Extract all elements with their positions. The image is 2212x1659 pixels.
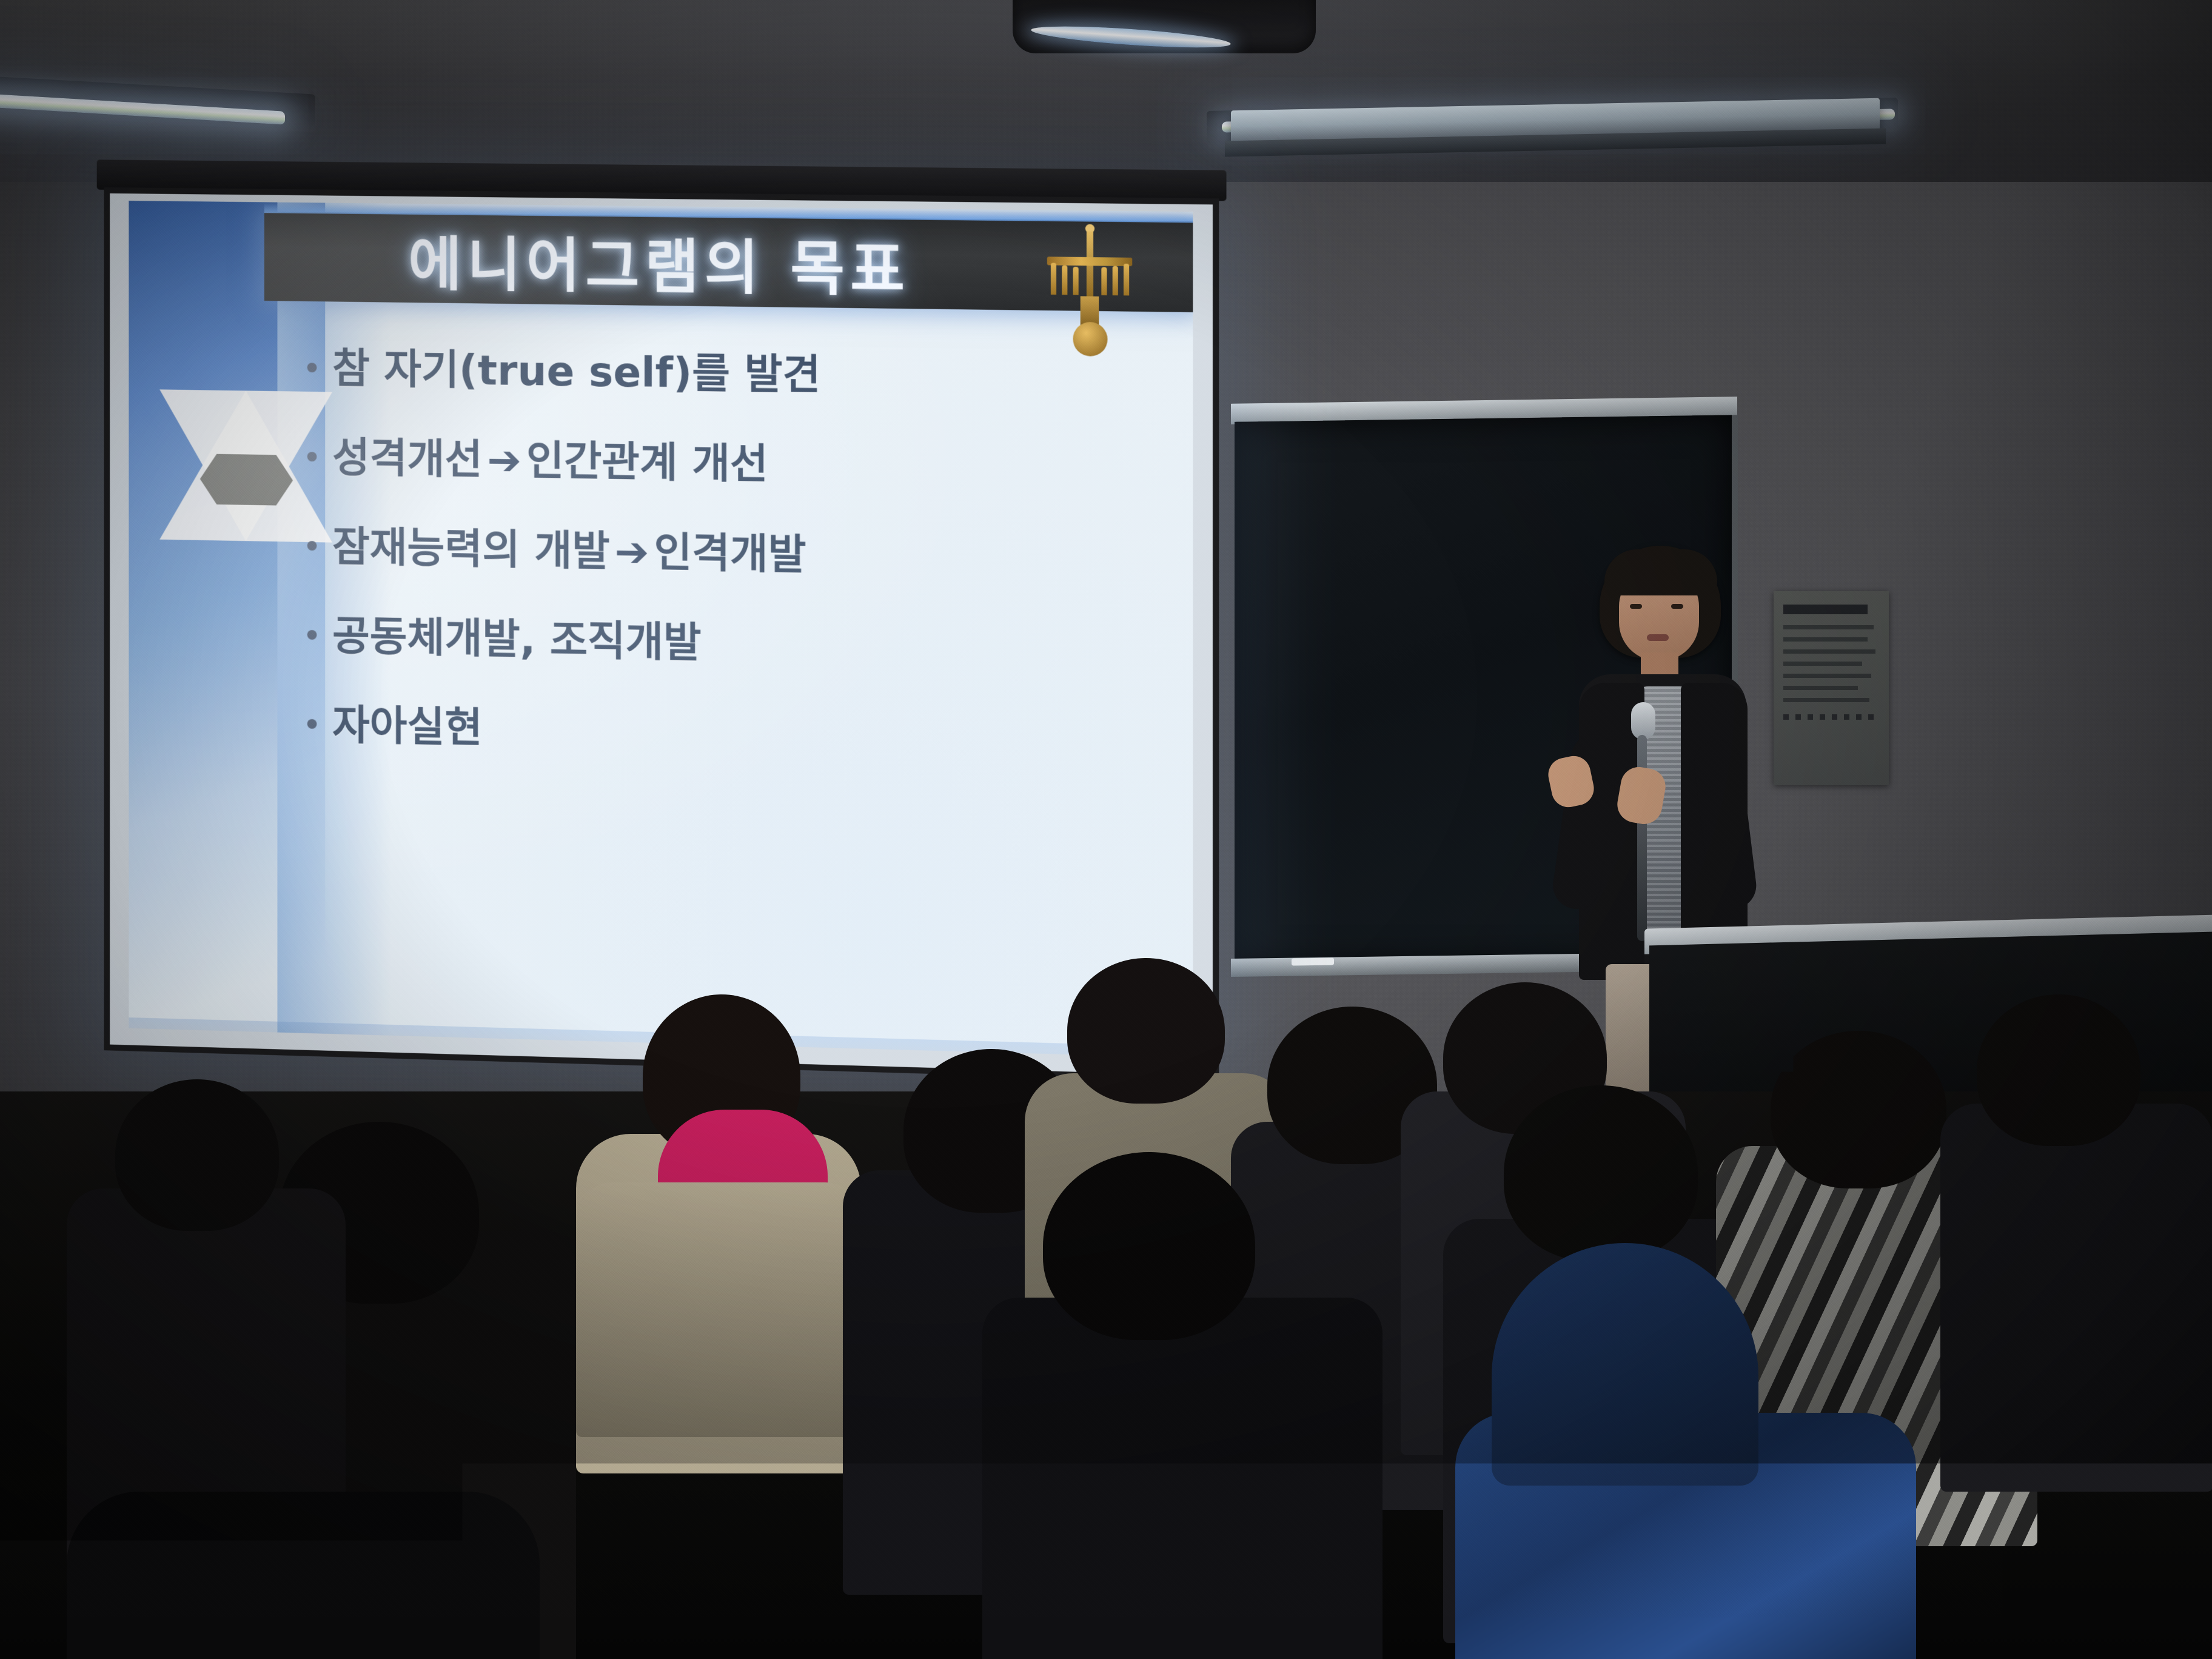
presenter-eye-left bbox=[1630, 604, 1642, 609]
menorah-arm bbox=[1062, 266, 1067, 295]
menorah-arm bbox=[1113, 266, 1118, 296]
microphone-handle bbox=[1637, 735, 1647, 941]
arrow-right-icon: ➔ bbox=[610, 531, 654, 575]
bullet-marker-icon bbox=[307, 452, 317, 461]
bullet-text: 자아실현 bbox=[332, 704, 482, 751]
presenter-eye-right bbox=[1671, 604, 1683, 609]
bullet-marker-icon bbox=[307, 719, 317, 729]
bullet-text: 참 자기(true self)를 발견 bbox=[332, 347, 820, 398]
arrow-right-icon: ➔ bbox=[483, 439, 526, 483]
audience-head bbox=[115, 1079, 279, 1231]
star-hexagon-center bbox=[200, 454, 293, 506]
menorah-arm bbox=[1051, 263, 1056, 295]
audience-head bbox=[1043, 1152, 1255, 1340]
menorah-crossbar bbox=[1047, 256, 1132, 266]
microphone-icon bbox=[1631, 702, 1655, 740]
slide-title: 에니어그램의 목표 bbox=[312, 221, 1009, 301]
slide-bullet-item: 자아실현 bbox=[307, 703, 1146, 765]
poster-text-line bbox=[1783, 698, 1869, 702]
wall-poster bbox=[1774, 591, 1889, 785]
bullet-text-before: 성격개선 bbox=[332, 437, 482, 483]
bullet-text: 공동체개발, 조직개발 bbox=[332, 615, 702, 666]
bullet-text-before: 잠재능력의 개발 bbox=[332, 526, 610, 574]
hexagram-star-icon bbox=[159, 375, 332, 558]
slide-bullet-item: 잠재능력의 개발 ➔ 인격개발 bbox=[307, 525, 1146, 584]
slide-bullet-item: 성격개선 ➔ 인간관계 개선 bbox=[307, 436, 1146, 493]
bullet-marker-icon bbox=[307, 541, 317, 551]
menorah-arm bbox=[1101, 267, 1107, 295]
slide-title-bar: 에니어그램의 목표 bbox=[264, 212, 1193, 312]
presenter-bangs bbox=[1604, 549, 1717, 595]
audience-member-far-right bbox=[1940, 1104, 2212, 1492]
bullet-text-after: 인간관계 개선 bbox=[526, 440, 768, 487]
menorah-arm bbox=[1124, 264, 1129, 296]
menorah-ornament-icon bbox=[1044, 223, 1136, 364]
audience-head bbox=[1771, 1031, 1946, 1188]
poster-text-line bbox=[1783, 637, 1868, 642]
audience-member-front-right-edge bbox=[618, 1528, 1043, 1659]
slide-bullet-list: 참 자기(true self)를 발견 성격개선 ➔ 인간관계 개선 잠재능력의… bbox=[307, 347, 1146, 812]
audience-head bbox=[1504, 1085, 1698, 1261]
audience-member-front-left bbox=[67, 1492, 540, 1659]
poster-text-line bbox=[1783, 674, 1871, 678]
poster-text-line bbox=[1783, 686, 1858, 690]
menorah-arm bbox=[1073, 267, 1079, 295]
beige-jacket-shoulder bbox=[576, 1182, 861, 1437]
bullet-text-after: 인격개발 bbox=[654, 531, 806, 578]
audience-head bbox=[1067, 958, 1225, 1104]
poster-footer-dots bbox=[1783, 714, 1879, 720]
slide-left-gradient-panel bbox=[129, 201, 325, 1034]
projection-screen: 에니어그램의 목표 참 자기 bbox=[104, 187, 1219, 1082]
bullet-marker-icon bbox=[307, 363, 317, 372]
menorah-ball bbox=[1073, 322, 1108, 357]
bullet-marker-icon bbox=[307, 630, 317, 640]
audience-head bbox=[1977, 994, 2140, 1146]
poster-text-line bbox=[1783, 625, 1874, 629]
lecture-hall-scene: 에니어그램의 목표 참 자기 bbox=[0, 0, 2212, 1659]
poster-title-block bbox=[1783, 605, 1868, 614]
slide-bullet-item: 참 자기(true self)를 발견 bbox=[307, 347, 1146, 402]
presenter-mouth bbox=[1647, 634, 1669, 641]
poster-text-line bbox=[1783, 662, 1862, 666]
slide-bullet-item: 공동체개발, 조직개발 bbox=[307, 614, 1146, 674]
chalk-piece bbox=[1292, 958, 1334, 966]
poster-text-line bbox=[1783, 649, 1875, 654]
presentation-slide: 에니어그램의 목표 참 자기 bbox=[129, 201, 1193, 1058]
